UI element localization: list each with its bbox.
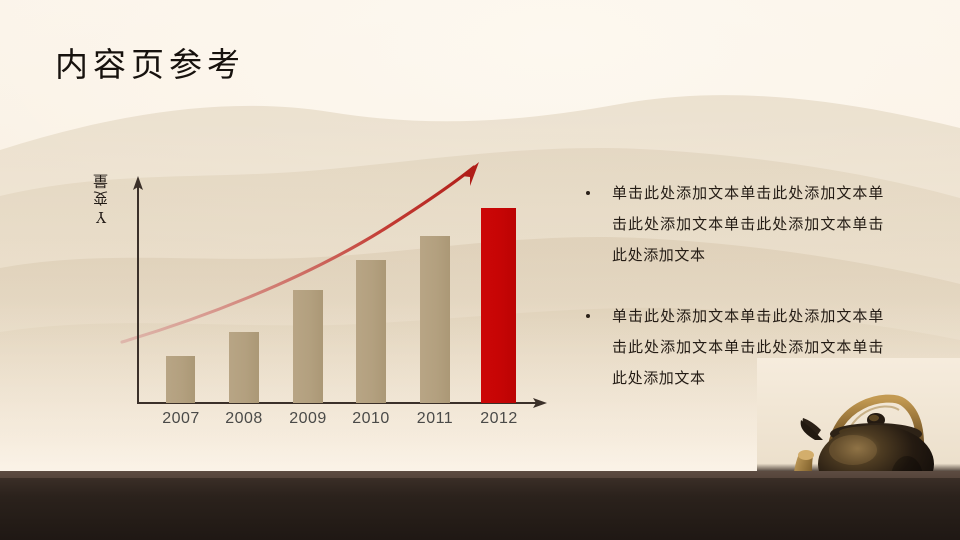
bar-2008 [229,332,259,403]
bar-chart: Y变量 [0,0,600,460]
x-tick-2012: 2012 [464,410,534,428]
bar-2010 [356,260,386,403]
bar-2009 [293,290,323,403]
bar-2012 [481,208,516,403]
bar-2007 [166,356,195,403]
x-tick-2010: 2010 [336,410,406,428]
chart-bars [0,0,600,403]
x-tick-2011: 2011 [400,410,470,428]
bar-2011 [420,236,450,403]
list-item[interactable]: 单击此处添加文本单击此处添加文本单击此处添加文本单击此处添加文本单击此处添加文本 [575,178,925,271]
bullet-dot-icon [586,314,590,318]
x-tick-2009: 2009 [273,410,343,428]
footer-band-edge [0,471,960,478]
list-item-text: 单击此处添加文本单击此处添加文本单击此处添加文本单击此处添加文本单击此处添加文本 [612,178,884,271]
x-tick-2008: 2008 [209,410,279,428]
slide-canvas: 内容页参考 Y变量 [0,0,960,540]
bullet-dot-icon [586,191,590,195]
x-tick-2007: 2007 [146,410,216,428]
footer-band [0,478,960,540]
